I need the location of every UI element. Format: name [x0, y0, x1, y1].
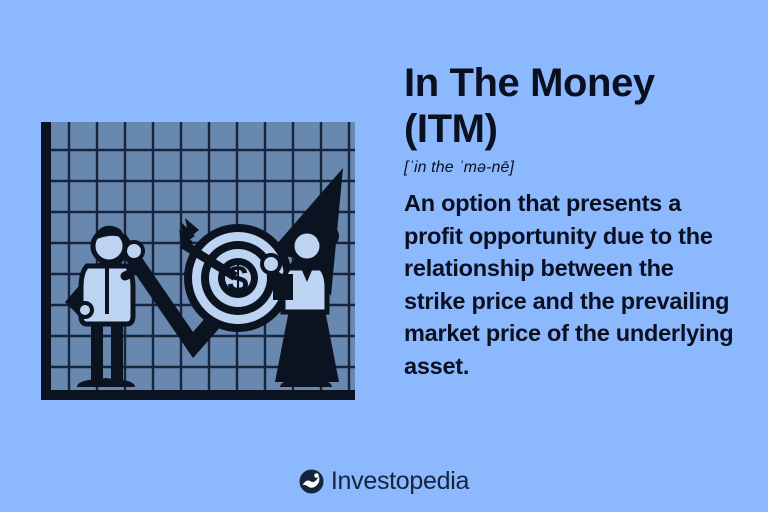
investopedia-logo-icon [299, 469, 324, 494]
illustration: $ [33, 118, 363, 408]
pronunciation-text: [ˈin the ˈmə-nē] [404, 158, 734, 178]
definition-text: An option that presents a profit opportu… [404, 187, 734, 382]
term-title: In The Money (ITM) [404, 60, 734, 152]
text-column: In The Money (ITM) [ˈin the ˈmə-nē] An o… [404, 60, 734, 382]
footer-brand: Investopedia [0, 469, 768, 494]
definition-card: $ [0, 0, 768, 512]
dollar-sign: $ [227, 259, 248, 301]
brand-name: Investopedia [331, 469, 469, 494]
